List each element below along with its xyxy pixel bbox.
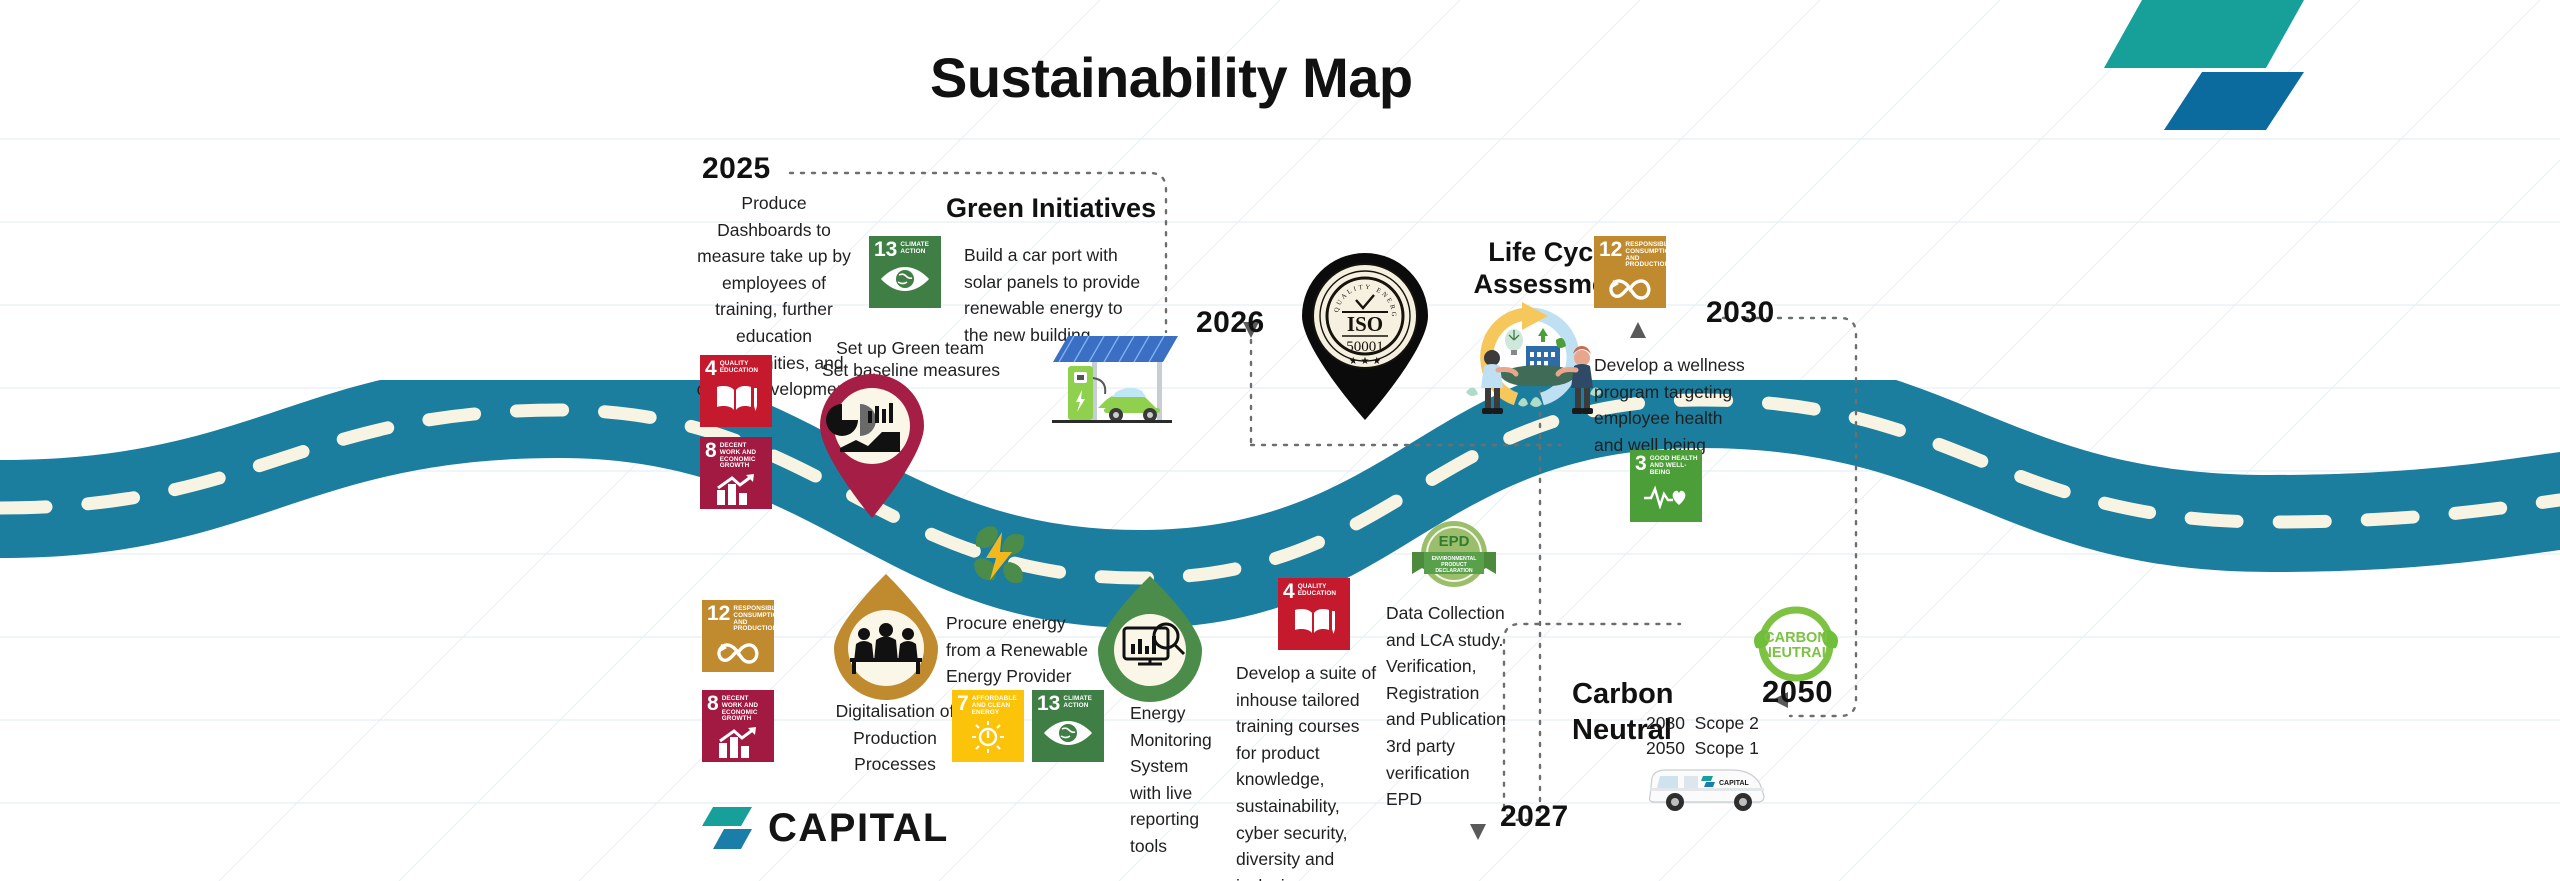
sdg-4-left-number: 4 <box>705 360 717 378</box>
sdg-3-right-caption: Good Health and Well-Being <box>1650 455 1698 476</box>
milestone-year-2050: 2050 <box>1762 674 1833 710</box>
sdg-badge-12-right: 12 Responsible Consumption and Productio… <box>1594 236 1666 308</box>
capital-logo-text: CAPITAL <box>768 806 949 851</box>
sdg-13-top-header: 13 Climate Action <box>869 236 941 259</box>
green-energy-leaf-icon <box>958 512 1038 592</box>
growth-chart-icon <box>700 470 772 509</box>
growth-chart-icon <box>702 723 774 762</box>
text-energy-monitoring: Energy Monitoring System with live repor… <box>1130 700 1220 860</box>
page-title: Sustainability Map <box>930 45 1490 110</box>
pin-baseline-measures <box>812 370 932 525</box>
sdg-7-bottom-header: 7 Affordable and Clean Energy <box>952 690 1024 716</box>
book-icon <box>1278 601 1350 641</box>
sdg-badge-8-bottom: 8 Decent Work and Economic Growth <box>702 690 774 762</box>
sdg-12-right-number: 12 <box>1599 241 1622 259</box>
logo-bottom-shape <box>2164 72 2304 130</box>
sdg-7-bottom-caption: Affordable and Clean Energy <box>972 695 1020 716</box>
sdg-8-left-header: 8 Decent Work and Economic Growth <box>700 437 772 470</box>
sdg-8-left-number: 8 <box>705 442 717 460</box>
iso-stars: ★ ★ ★ <box>1349 356 1381 367</box>
sdg-12-right-header: 12 Responsible Consumption and Productio… <box>1594 236 1666 269</box>
sdg-13-top-caption: Climate Action <box>900 241 937 256</box>
sdg-12-bottom-header: 12 Responsible Consumption and Productio… <box>702 600 774 633</box>
climate-eye-icon <box>1032 713 1104 753</box>
sdg-4-bottom-header: 4 Quality Education <box>1278 578 1350 601</box>
logo-top-shape <box>2104 0 2304 68</box>
sdg-13-bottom-number: 13 <box>1037 695 1060 713</box>
sdg-4-left-header: 4 Quality Education <box>700 355 772 378</box>
sdg-8-left-caption: Decent Work and Economic Growth <box>720 442 768 470</box>
sdg-badge-13-top: 13 Climate Action <box>869 236 941 308</box>
sustainability-map-canvas: Sustainability Map 2 <box>0 0 2560 881</box>
sdg-7-bottom-number: 7 <box>957 695 969 713</box>
milestone-year-2025: 2025 <box>702 152 771 186</box>
sdg-badge-3-right: 3 Good Health and Well-Being <box>1630 450 1702 522</box>
sdg-3-right-number: 3 <box>1635 455 1647 473</box>
climate-eye-icon <box>869 259 941 299</box>
carbon-neutral-line2: NEUTRAL <box>1761 645 1830 661</box>
sdg-4-left-caption: Quality Education <box>720 360 768 375</box>
text-wellness-program: Develop a wellness program targeting emp… <box>1594 352 1754 458</box>
van-brand-text: CAPITAL <box>1719 780 1750 787</box>
epd-line3: DECLARATION <box>1435 568 1473 574</box>
brand-logo-mark <box>2104 0 2304 130</box>
book-icon <box>700 378 772 418</box>
sdg-badge-4-left: 4 Quality Education <box>700 355 772 427</box>
infinity-icon <box>1594 269 1666 308</box>
sdg-badge-12-bottom: 12 Responsible Consumption and Productio… <box>702 600 774 672</box>
sdg-12-bottom-caption: Responsible Consumption and Production <box>733 605 774 633</box>
sdg-badge-7-bottom: 7 Affordable and Clean Energy <box>952 690 1024 762</box>
sdg-12-bottom-number: 12 <box>707 605 730 623</box>
heading-green-initiatives: Green Initiatives <box>946 192 1206 226</box>
sdg-13-top-number: 13 <box>874 241 897 259</box>
milestone-year-2027: 2027 <box>1500 800 1569 834</box>
iso-50001-badge: QUALITY ENERGY MANAGEMENT SYSTEM ISO 500… <box>1290 250 1440 422</box>
text-lca-study: Data Collection and LCA study. Verificat… <box>1386 600 1506 813</box>
iso-number: 50001 <box>1346 339 1384 355</box>
icon-energy-monitoring <box>1092 574 1208 702</box>
solar-carport-illustration <box>1022 330 1192 445</box>
carbon-neutral-line1: CARBON <box>1764 630 1828 646</box>
sdg-badge-8-left: 8 Decent Work and Economic Growth <box>700 437 772 509</box>
arrowhead-2027 <box>1470 824 1486 840</box>
scope-2050-year: 2050 <box>1646 738 1685 758</box>
infinity-icon <box>702 633 774 672</box>
milestone-year-2030: 2030 <box>1706 296 1775 330</box>
capital-delivery-van: CAPITAL <box>1640 758 1770 814</box>
epd-acronym: EPD <box>1439 533 1470 550</box>
scope-2050-label: Scope 1 <box>1695 738 1759 758</box>
sdg-8-bottom-number: 8 <box>707 695 719 713</box>
heartbeat-icon <box>1630 476 1702 516</box>
sdg-3-right-header: 3 Good Health and Well-Being <box>1630 450 1702 476</box>
sdg-8-bottom-caption: Decent Work and Economic Growth <box>722 695 770 723</box>
text-training-courses: Develop a suite of inhouse tailored trai… <box>1236 660 1384 881</box>
scope-2030-label: Scope 2 <box>1695 713 1759 733</box>
sdg-badge-4-bottom: 4 Quality Education <box>1278 578 1350 650</box>
scope-2030-year: 2030 <box>1646 713 1685 733</box>
iso-code: ISO <box>1347 312 1383 336</box>
sun-power-icon <box>952 716 1024 756</box>
icon-renewable-energy-provider <box>828 572 944 700</box>
capital-logo-mark <box>700 805 754 851</box>
text-procure-energy: Procure energy from a Renewable Energy P… <box>946 610 1094 690</box>
scope-row-2030: 2030 Scope 2 <box>1646 710 1846 737</box>
sdg-4-bottom-number: 4 <box>1283 583 1295 601</box>
sdg-8-bottom-header: 8 Decent Work and Economic Growth <box>702 690 774 723</box>
epd-badge: EPD ENVIRONMENTAL PRODUCT DECLARATION <box>1406 518 1502 602</box>
sdg-4-bottom-caption: Quality Education <box>1298 583 1346 598</box>
capital-logo: CAPITAL <box>700 805 949 851</box>
milestone-year-2026: 2026 <box>1196 306 1265 340</box>
sdg-12-right-caption: Responsible Consumption and Production <box>1625 241 1666 269</box>
